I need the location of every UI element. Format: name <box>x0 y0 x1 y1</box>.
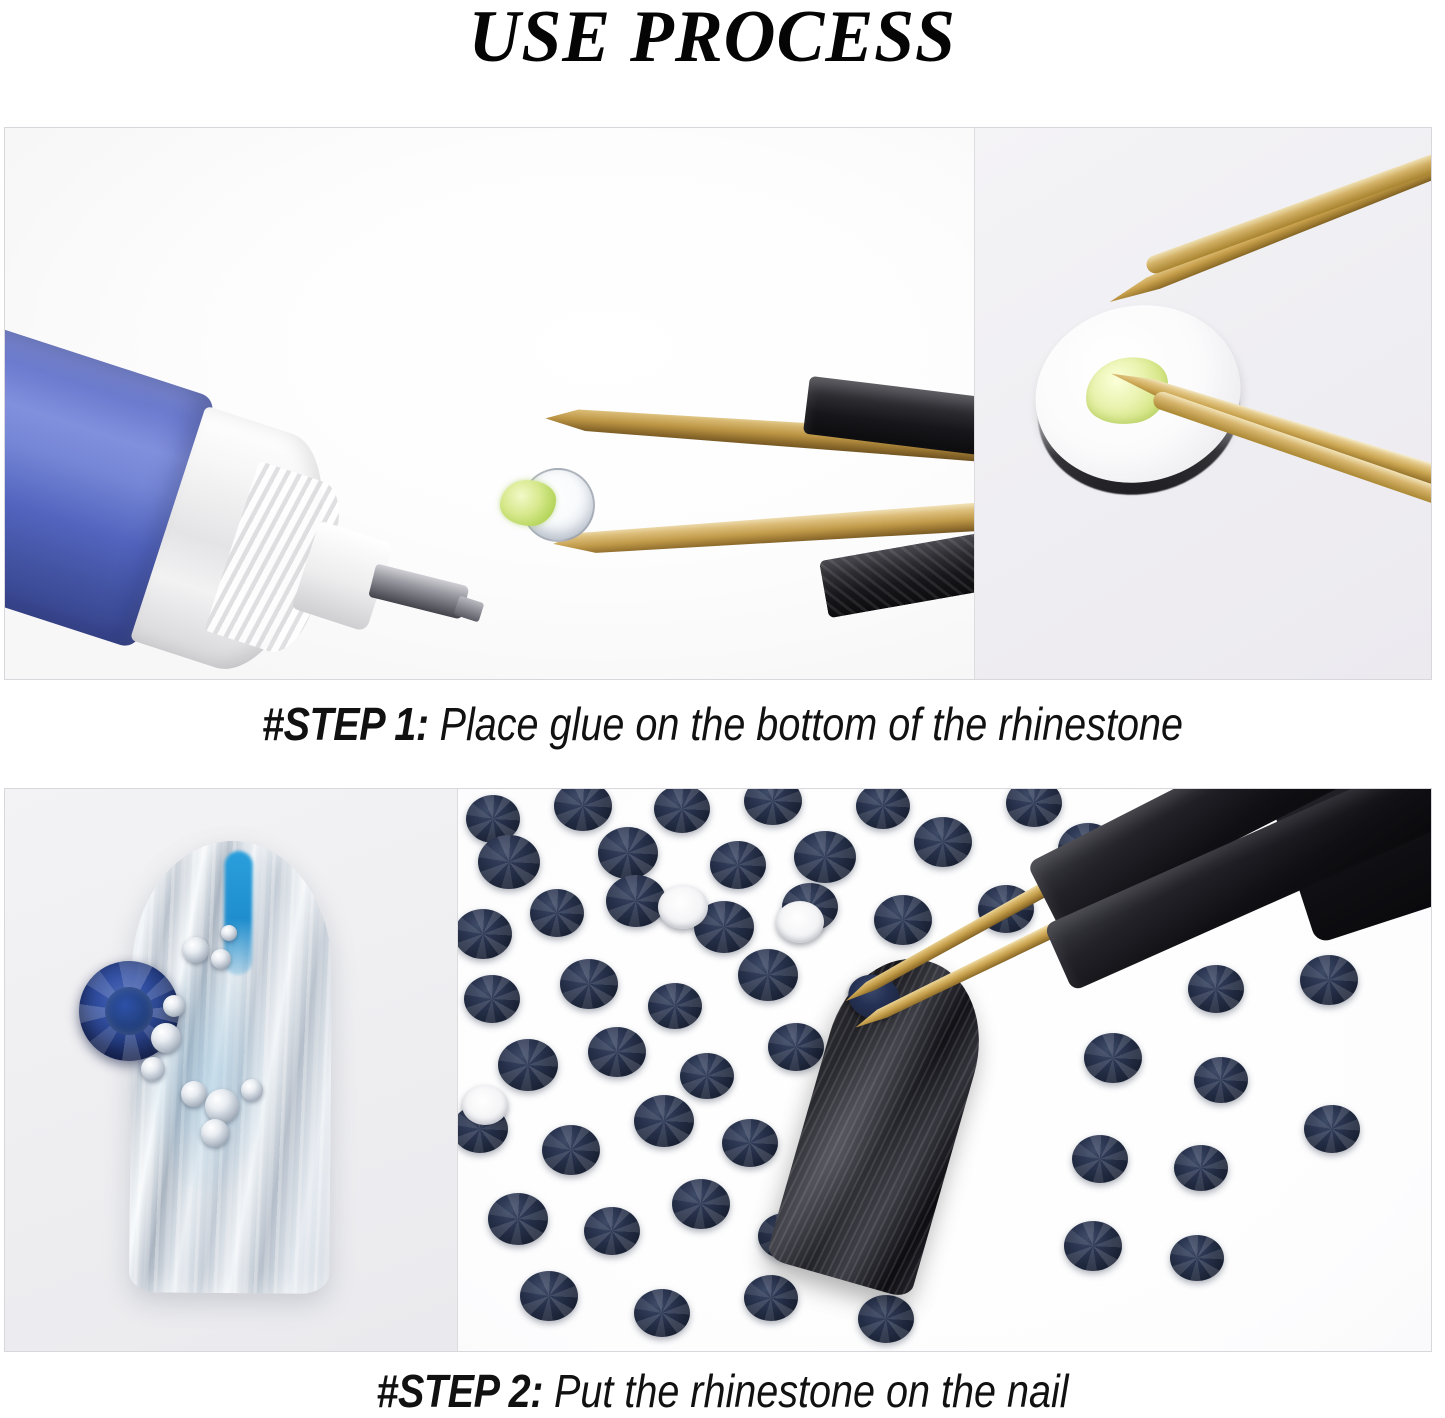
rhinestone <box>530 889 584 937</box>
rhinestone <box>520 1271 578 1321</box>
silver-bead <box>241 1079 263 1101</box>
rhinestone <box>1084 1033 1142 1083</box>
rhinestone <box>542 1125 600 1175</box>
step-1-image-block: G Rh Blue rhinestone glue bottle held by… <box>4 127 1432 680</box>
rhinestone <box>914 817 972 867</box>
step-1-label: #STEP 1: <box>262 698 429 750</box>
rhinestone <box>794 831 856 883</box>
rhinestone <box>1174 1145 1228 1191</box>
step-2-image-block: Coffin-shaped silver chrome press-on nai… <box>4 788 1432 1352</box>
silver-bead <box>141 1057 165 1081</box>
silver-bead <box>211 949 231 969</box>
step-1-caption: #STEP 1: Place glue on the bottom of the… <box>101 697 1344 751</box>
rhinestone <box>710 841 766 889</box>
rhinestone <box>722 1119 778 1167</box>
rhinestone <box>634 1095 694 1147</box>
silver-bead <box>221 925 237 941</box>
photo-glue-applied-to-rhinestone: G Rh Blue rhinestone glue bottle held by… <box>5 128 974 679</box>
step-2-caption: #STEP 2: Put the rhinestone on the nail <box>101 1364 1344 1418</box>
rhinestone <box>598 827 658 879</box>
silver-bead <box>181 1081 207 1107</box>
rhinestone <box>478 835 540 889</box>
rhinestone <box>680 1053 734 1099</box>
rhinestone <box>464 975 520 1023</box>
rhinestone-flipped <box>658 885 708 929</box>
rhinestone <box>560 959 618 1009</box>
rhinestone <box>1300 955 1358 1005</box>
page-header: USE PROCESS <box>0 0 1445 120</box>
silver-bead <box>183 937 209 963</box>
step-2-text: Put the rhinestone on the nail <box>543 1365 1069 1417</box>
rhinestone <box>768 1023 824 1071</box>
rhinestone <box>1170 1235 1224 1281</box>
rhinestone <box>858 1295 914 1343</box>
rhinestone <box>606 875 666 927</box>
rhinestone <box>1064 1221 1122 1271</box>
rhinestone <box>588 1027 646 1077</box>
photo-rhinestone-with-glue-in-tweezers: Gold tweezers holding a white flat-back … <box>974 128 1431 679</box>
rhinestone <box>744 1275 798 1321</box>
silver-bead <box>205 1089 239 1123</box>
rhinestone <box>584 1207 640 1255</box>
rhinestone <box>634 1289 690 1337</box>
rhinestone <box>874 895 932 945</box>
photo-finished-decorated-nail: Coffin-shaped silver chrome press-on nai… <box>5 789 457 1351</box>
silver-bead <box>163 995 185 1017</box>
silver-bead <box>201 1119 229 1147</box>
photo-rhinestones-and-tweezers: Many navy blue flat-back rhinestones sca… <box>457 789 1431 1351</box>
rhinestone <box>1304 1105 1360 1153</box>
rhinestone <box>738 949 798 1001</box>
rhinestone <box>498 1039 558 1091</box>
rhinestone <box>1194 1057 1248 1103</box>
silver-bead <box>151 1023 181 1053</box>
rhinestone <box>488 1193 548 1245</box>
step-1-text: Place glue on the bottom of the rhinesto… <box>429 698 1183 750</box>
glue-gel-drop <box>500 480 556 526</box>
page-title: USE PROCESS <box>469 0 956 75</box>
rhinestone <box>1072 1135 1128 1183</box>
rhinestone <box>672 1179 730 1229</box>
step-2-label: #STEP 2: <box>376 1365 543 1417</box>
rhinestone <box>1188 965 1244 1013</box>
rhinestone <box>648 983 702 1029</box>
